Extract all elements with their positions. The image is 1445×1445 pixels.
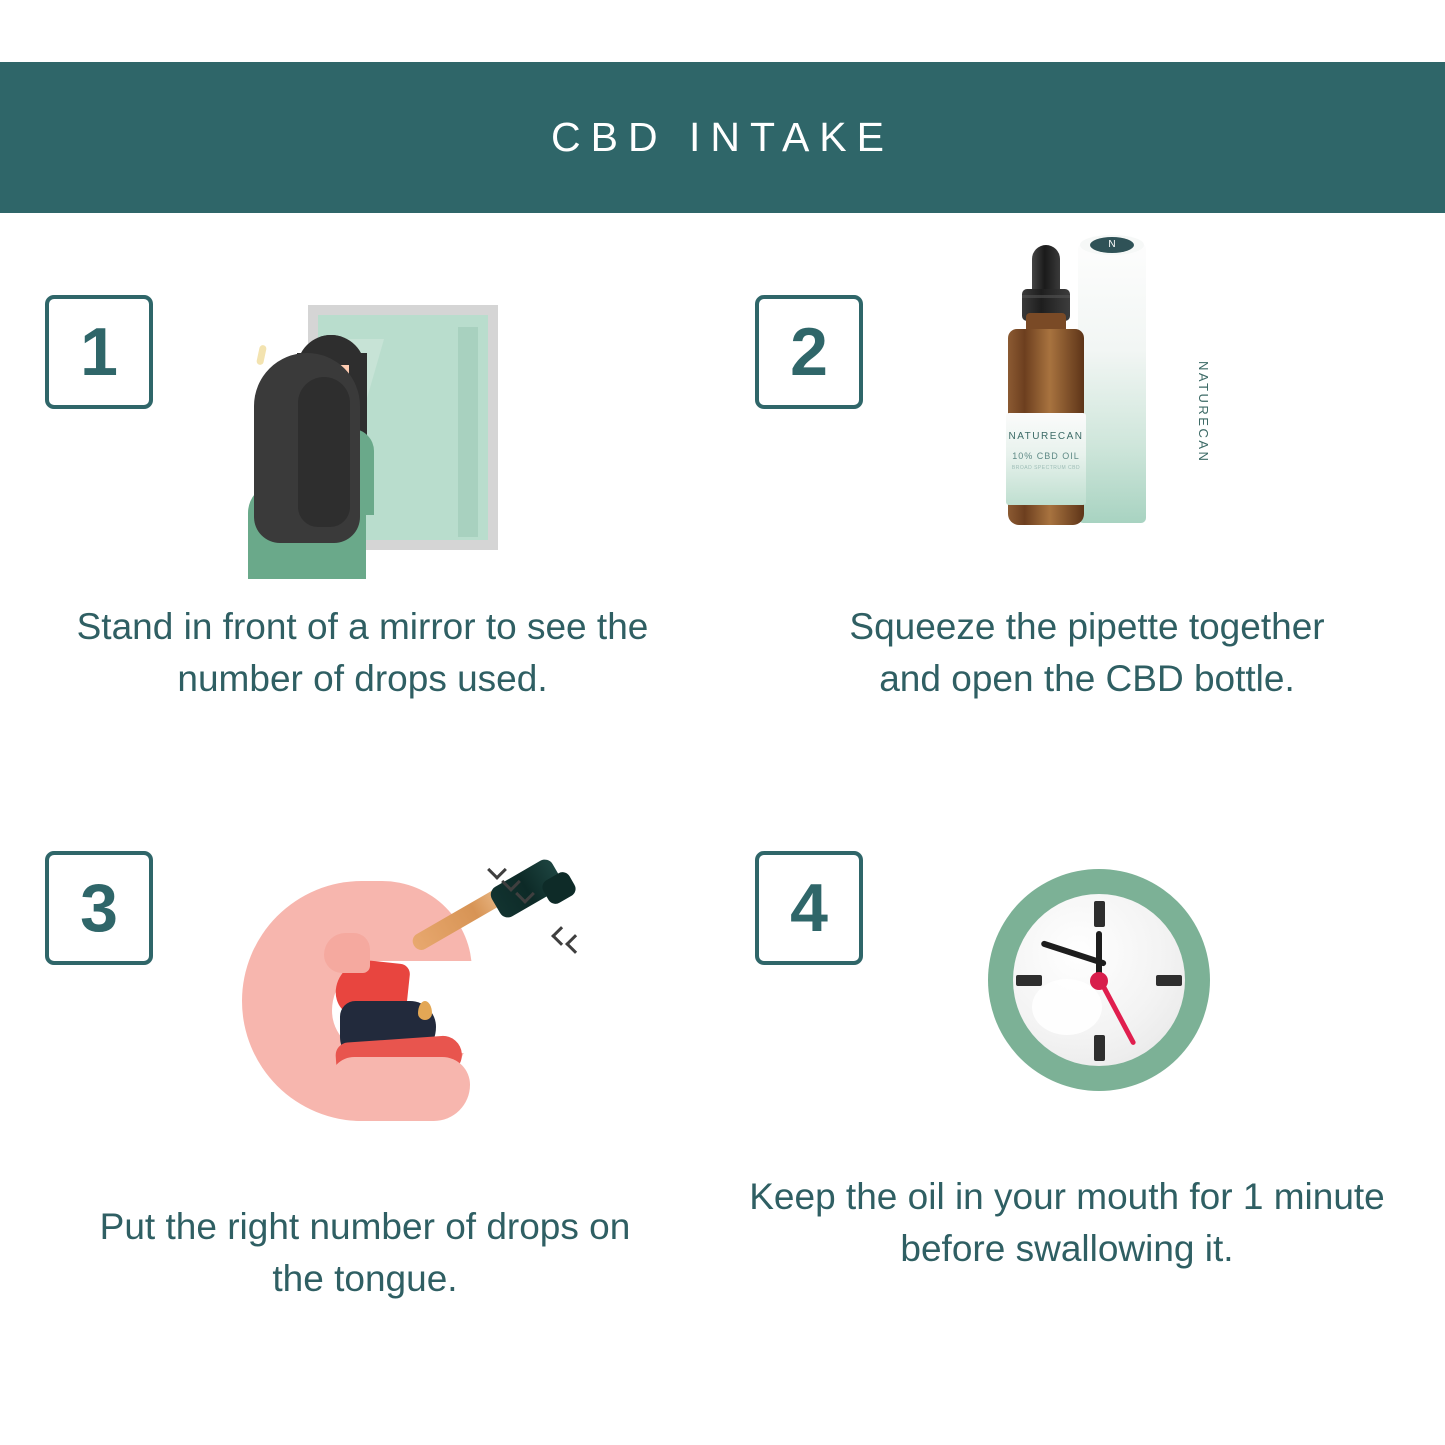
step-card-3: 3 Put the right number of drops on the t… (0, 833, 722, 1445)
clock-tick-3 (1156, 975, 1182, 986)
step-card-2: 2 NATURECAN N NATURECAN 10% CBD OIL BROA… (722, 213, 1445, 833)
illustration-clock (980, 861, 1230, 1111)
step-number-3: 3 (80, 874, 118, 942)
bottle-subtext: BROAD SPECTRUM CBD (1006, 465, 1086, 471)
dropper-collar-rib (1022, 295, 1070, 298)
page-title: CBD INTAKE (551, 114, 894, 161)
brand-logo-letter: N (1108, 240, 1115, 250)
tube-cap-logo: N (1090, 237, 1134, 253)
clock-tick-6 (1094, 1035, 1105, 1061)
motion-chevron-icon (487, 860, 507, 880)
step-card-1: 1 Stand in front of a mirror to (0, 213, 722, 833)
oil-drop (418, 1001, 432, 1020)
step-card-4: 4 Keep the oil in your mouth for 1 minut… (722, 833, 1445, 1445)
illustration-mouth-dropper (228, 853, 608, 1153)
product-tube: NATURECAN (1078, 243, 1146, 523)
person-hair-inner (298, 377, 350, 527)
clock-center-hub (1090, 972, 1108, 990)
step-caption-4: Keep the oil in your mouth for 1 minute … (737, 1171, 1397, 1275)
step-number-1: 1 (80, 318, 118, 386)
nose (324, 933, 370, 973)
bottle-strength-text: 10% CBD OIL (1006, 451, 1086, 461)
tube-brand-text: NATURECAN (1196, 361, 1211, 463)
sparkle-accent (256, 344, 267, 365)
clock-tick-12 (1094, 901, 1105, 927)
bottle-brand-text: NATURECAN (1006, 431, 1086, 442)
step-number-badge-4: 4 (755, 851, 863, 965)
header-banner: CBD INTAKE (0, 62, 1445, 213)
clock-tick-9 (1016, 975, 1042, 986)
top-white-margin (0, 0, 1445, 62)
step-number-badge-1: 1 (45, 295, 153, 409)
step-number-2: 2 (790, 318, 828, 386)
step-number-badge-3: 3 (45, 851, 153, 965)
bottle-label: NATURECAN 10% CBD OIL BROAD SPECTRUM CBD (1006, 413, 1086, 505)
illustration-mirror-scene (240, 291, 540, 591)
clock-face-highlight (1032, 979, 1102, 1035)
illustration-cbd-product: NATURECAN N NATURECAN 10% CBD OIL BROAD … (980, 231, 1230, 561)
step-caption-1: Stand in front of a mirror to see the nu… (40, 601, 685, 705)
mirror-shine-right (458, 327, 478, 537)
chin (330, 1057, 470, 1121)
steps-grid: 1 Stand in front of a mirror to (0, 213, 1445, 1445)
step-caption-2: Squeeze the pipette together and open th… (827, 601, 1347, 705)
step-number-4: 4 (790, 874, 828, 942)
step-number-badge-2: 2 (755, 295, 863, 409)
step-caption-3: Put the right number of drops on the ton… (70, 1201, 660, 1305)
